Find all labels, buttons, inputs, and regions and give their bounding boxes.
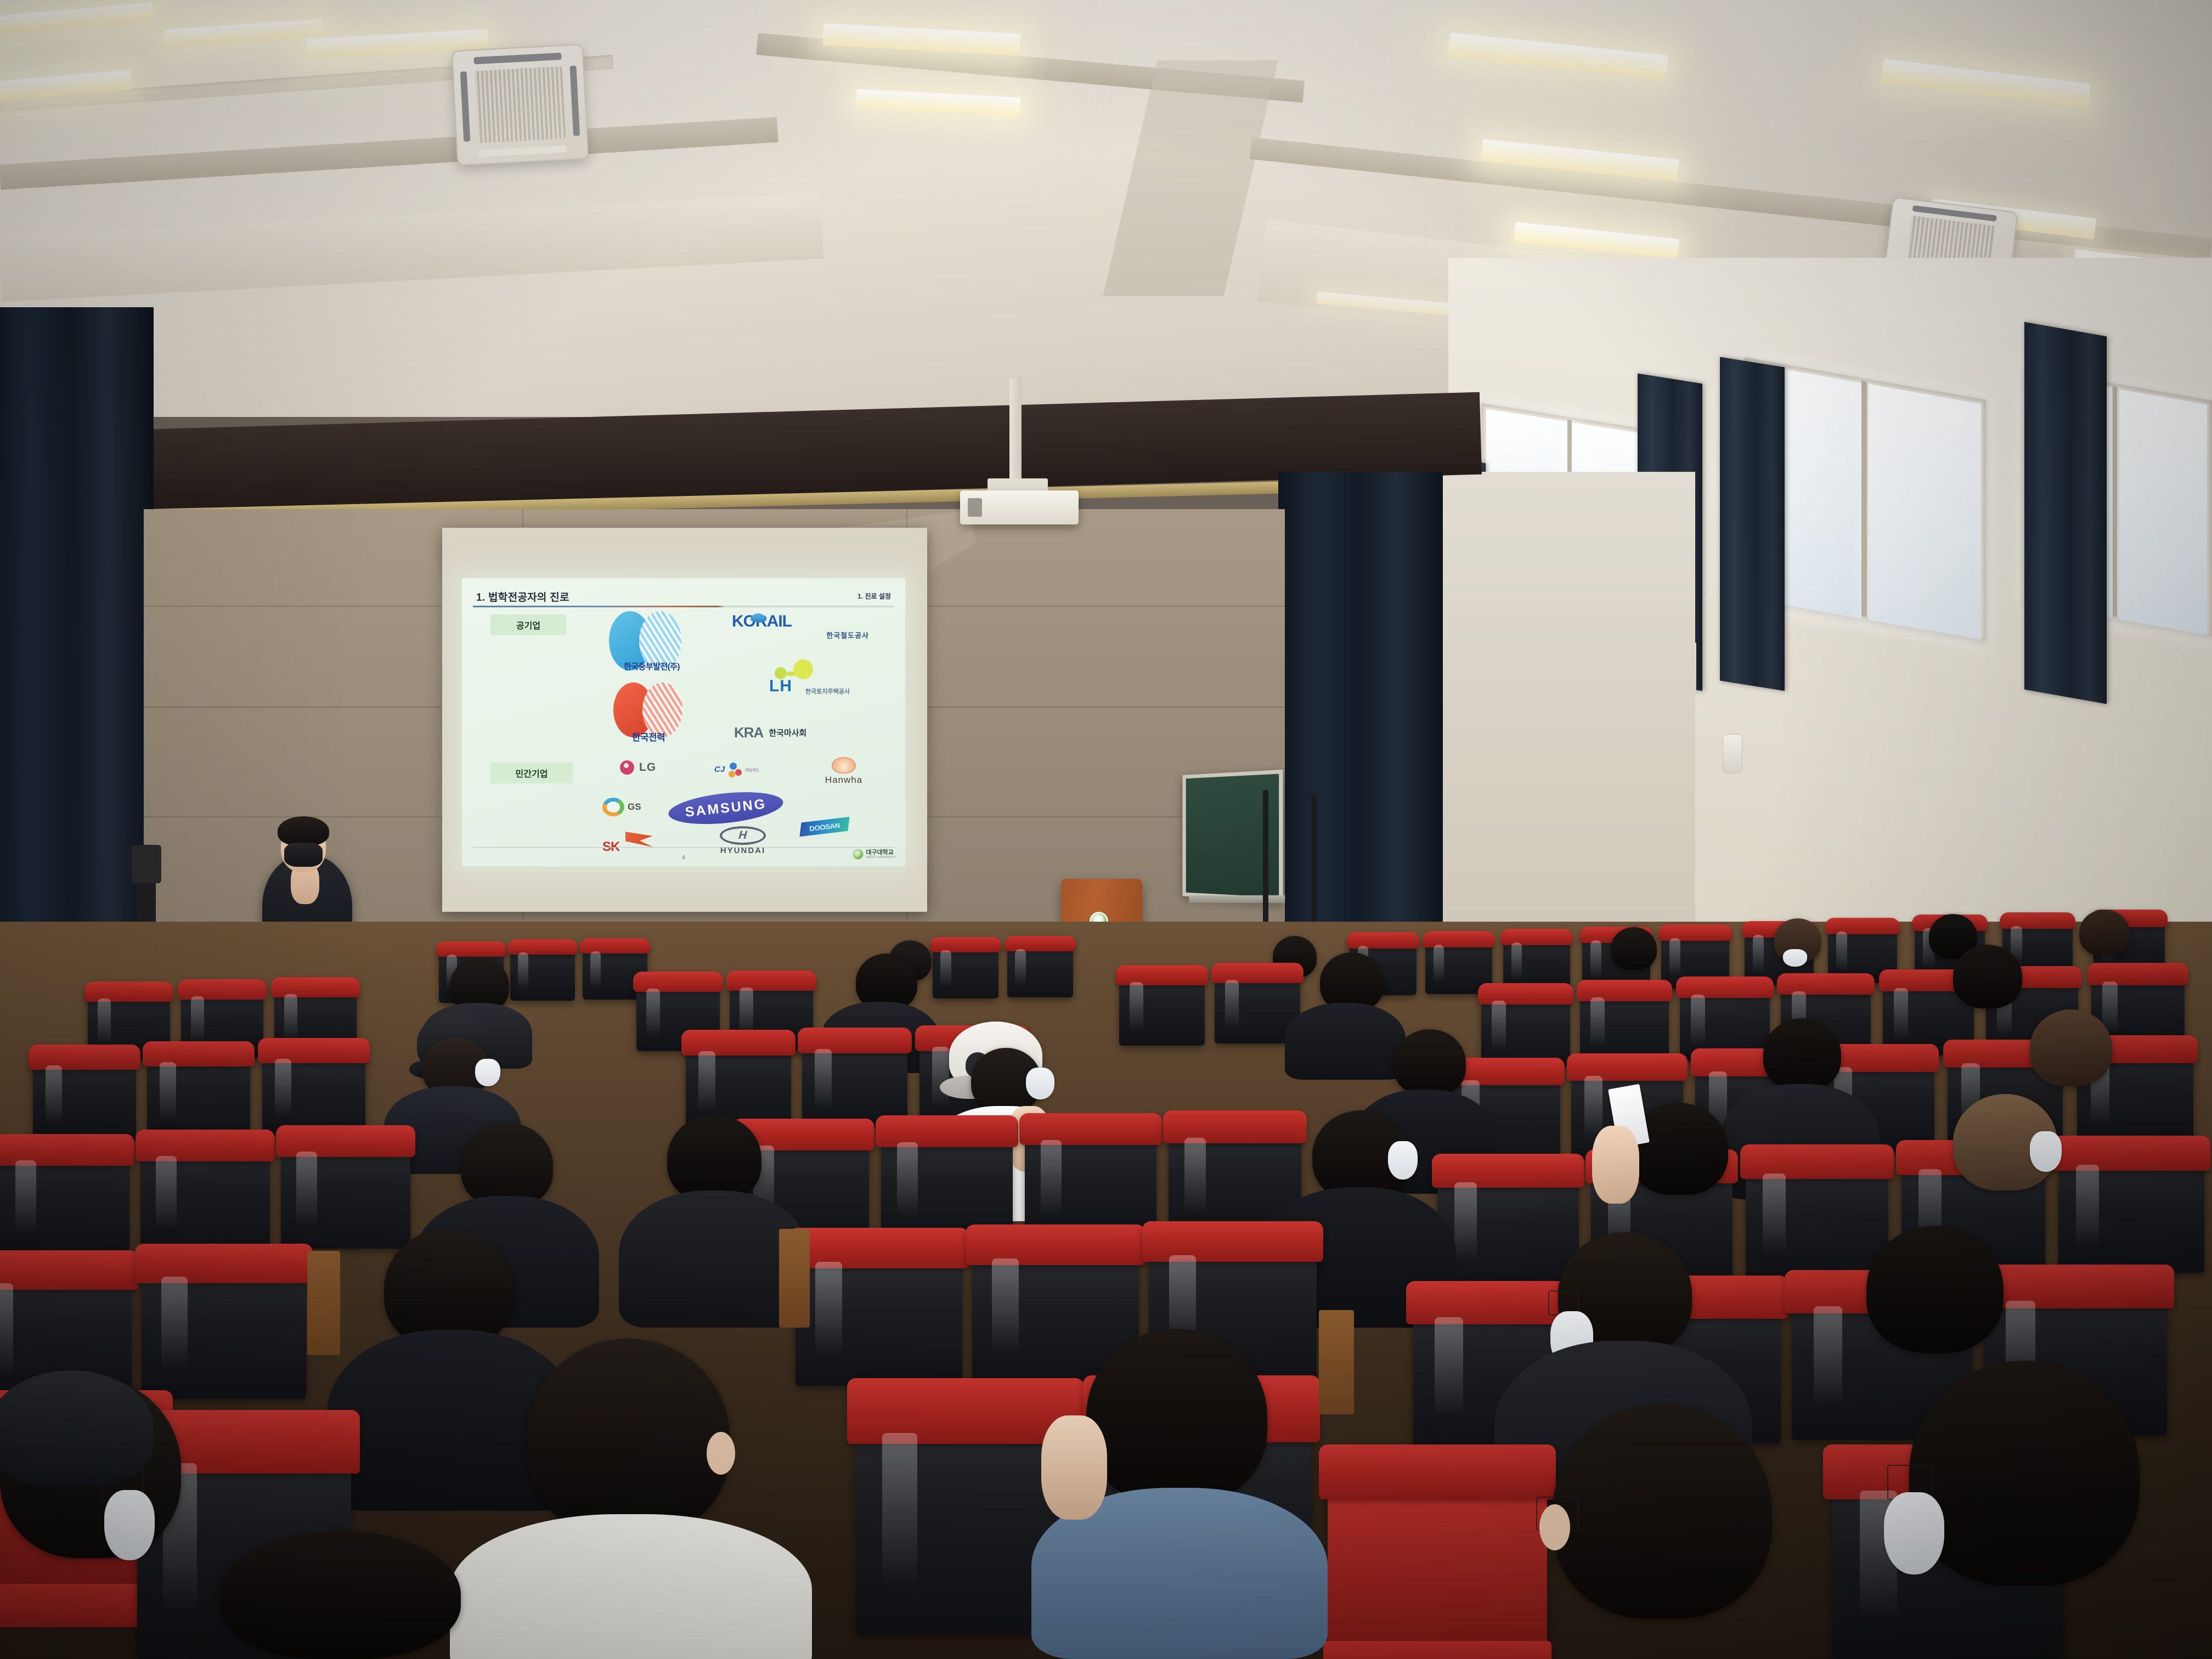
hanwha-wordmark: Hanwha: [811, 775, 877, 786]
window-mullion: [1861, 381, 1867, 618]
floor-speaker: [132, 845, 161, 883]
audience-head: [1866, 1226, 2004, 1353]
logo-lg: LG: [620, 760, 656, 775]
seat[interactable]: [262, 1052, 365, 1136]
korail-subtitle: 한국철도공사: [732, 630, 869, 640]
seat[interactable]: [933, 946, 998, 998]
audience-head: [1953, 945, 2022, 1008]
ceiling-light: [164, 19, 324, 47]
window-pane: [1869, 384, 1981, 640]
audience-cap: [0, 1370, 154, 1486]
audience-head-foreground: [219, 1531, 461, 1659]
logo-korail: KORAIL 한국철도공사: [732, 612, 869, 652]
university-name: 대구대학교: [866, 850, 896, 856]
seat[interactable]: [1481, 995, 1570, 1066]
window-pane: [2119, 389, 2207, 635]
audience-face-mask: [1388, 1141, 1418, 1180]
seat[interactable]: [510, 948, 575, 1001]
slide-title-rule: [473, 606, 894, 607]
seat[interactable]: [1328, 1476, 1547, 1659]
cj-dot: [735, 769, 742, 776]
audience-face-mask: [1884, 1492, 1944, 1575]
lg-mark: [620, 760, 634, 775]
logo-kepco-label: 한국전력: [599, 730, 698, 743]
logo-komipo-label: 한국중부발전(주): [592, 661, 711, 672]
category-chip-public: 공기업: [490, 614, 566, 635]
logo-samsung: SAMSUNG: [668, 793, 783, 823]
ceiling-light: [0, 2, 154, 36]
logo-hanwha: Hanwha: [811, 757, 877, 791]
cj-subtitle: 제일제당: [745, 768, 759, 773]
audience-head: [667, 1115, 761, 1203]
audience-shoulders-foreground: [450, 1514, 812, 1659]
logo-doosan: DOOSAN: [801, 820, 848, 834]
projection-screen: 1. 법학전공자의 진로 1. 진로 설정 공기업 민간기업 한국중부발전(주)…: [442, 528, 927, 912]
projector-lens: [968, 498, 982, 517]
logo-gs: GS: [602, 798, 641, 816]
chalkboard-tray: [1189, 895, 1285, 904]
presenter-hair: [278, 816, 329, 846]
audience-head: [1393, 1029, 1466, 1096]
logo-kra: KRA 한국마사회: [734, 720, 888, 745]
doosan-mark: DOOSAN: [799, 817, 849, 837]
lh-wordmark: LH: [769, 677, 792, 696]
seat[interactable]: [140, 1148, 270, 1253]
audience-head-foreground: [1909, 1361, 2140, 1585]
logo-kepco: [613, 682, 682, 737]
audience-arm: [1041, 1415, 1107, 1520]
ac-vane: [473, 53, 562, 64]
window-curtain: [2024, 322, 2107, 704]
seat[interactable]: [147, 1056, 250, 1139]
projected-slide: 1. 법학전공자의 진로 1. 진로 설정 공기업 민간기업 한국중부발전(주)…: [462, 578, 905, 866]
presenter-face-mask: [284, 843, 323, 867]
ceiling-panel: [0, 193, 823, 302]
lh-subtitle: 한국토지주택공사: [805, 687, 850, 696]
ac-vane: [460, 71, 470, 142]
category-chip-private: 민간기업: [490, 763, 573, 783]
slide-section-label: 1. 진로 설정: [857, 591, 891, 601]
seat[interactable]: [0, 1152, 129, 1257]
kra-subtitle: 한국마사회: [769, 727, 806, 738]
audience-face-mask: [104, 1490, 155, 1560]
samsung-mark: SAMSUNG: [667, 787, 785, 829]
audience-head-foreground: [1553, 1404, 1772, 1618]
samsung-wordmark: SAMSUNG: [684, 796, 767, 820]
audience-head-foreground: [1086, 1329, 1267, 1504]
kepco-mark: [613, 682, 682, 737]
seat[interactable]: [33, 1059, 136, 1142]
logo-sk: SK: [602, 832, 674, 856]
lh-blob: [793, 659, 813, 679]
slide-title: 1. 법학전공자의 진로: [476, 589, 569, 604]
ac-vane: [570, 66, 580, 136]
slide-page-number: 4: [462, 855, 905, 861]
seat[interactable]: [1025, 1131, 1156, 1239]
ceiling-beam-vertical: [1103, 60, 1278, 296]
wall-speaker: [1723, 734, 1742, 774]
slide-university-logo: 대구대학교 DAEGU UNIVERSITY: [853, 849, 896, 860]
ceiling-light: [1881, 59, 2091, 108]
seat[interactable]: [1007, 945, 1073, 997]
audience-head: [1763, 1018, 1841, 1091]
audience-head: [1611, 927, 1657, 970]
audience-ear: [707, 1432, 735, 1475]
audience-head-foreground: [527, 1339, 730, 1536]
lh-stem: [787, 672, 795, 676]
ceiling-beam: [0, 117, 778, 190]
audience-head: [2079, 910, 2130, 956]
cj-wordmark: CJ: [714, 765, 725, 774]
audience-shoulders: [1285, 1003, 1406, 1080]
logo-hyundai: HYUNDAI: [710, 826, 776, 855]
audience-face-mask: [1783, 949, 1807, 967]
auditorium-photo: 1. 법학전공자의 진로 1. 진로 설정 공기업 민간기업 한국중부발전(주)…: [0, 0, 2212, 1659]
audience-face-mask: [2030, 1131, 2062, 1172]
window-curtain: [1720, 357, 1785, 691]
ceiling-light: [1448, 32, 1668, 80]
projector-pole: [1009, 379, 1022, 483]
audience-area: [0, 922, 2212, 1659]
gs-wordmark: GS: [628, 802, 641, 812]
hanwha-mark: [832, 757, 856, 774]
seat-armrest: [1319, 1310, 1354, 1414]
slide-footer-rule: [473, 847, 894, 848]
university-name-en: DAEGU UNIVERSITY: [866, 856, 896, 859]
audience-head: [2030, 1009, 2112, 1086]
audience-ear: [1539, 1504, 1570, 1550]
ac-grille: [474, 66, 566, 143]
logo-cj: CJ 제일제당: [714, 763, 797, 779]
seat-armrest: [307, 1251, 340, 1355]
hyundai-mark: [720, 826, 766, 845]
logo-lh: LH 한국토지주택공사: [734, 658, 871, 706]
seat[interactable]: [1119, 977, 1205, 1046]
seat[interactable]: [795, 1251, 962, 1386]
sk-mark: [625, 832, 653, 847]
korail-swoosh: [751, 613, 766, 622]
audience-face-mask: [1026, 1068, 1054, 1099]
ceiling-light: [855, 89, 1020, 116]
doosan-wordmark: DOOSAN: [809, 821, 840, 832]
seat[interactable]: [1580, 992, 1669, 1063]
audience-face-mask: [475, 1059, 500, 1086]
gs-mark: [602, 798, 624, 816]
projector: [960, 490, 1079, 524]
ac-vane: [478, 145, 567, 156]
audience-arm: [1592, 1126, 1639, 1204]
seat-armrest: [779, 1229, 810, 1328]
window-mullion: [2113, 386, 2117, 617]
cj-dot: [730, 763, 737, 770]
kra-wordmark: KRA: [734, 724, 763, 741]
ceiling-ac-unit: [452, 44, 589, 166]
daegu-university-emblem-icon: [853, 849, 864, 860]
audience-head: [461, 1122, 553, 1208]
lg-wordmark: LG: [639, 761, 656, 774]
cj-dot: [729, 771, 735, 777]
seat[interactable]: [2058, 1155, 2204, 1273]
